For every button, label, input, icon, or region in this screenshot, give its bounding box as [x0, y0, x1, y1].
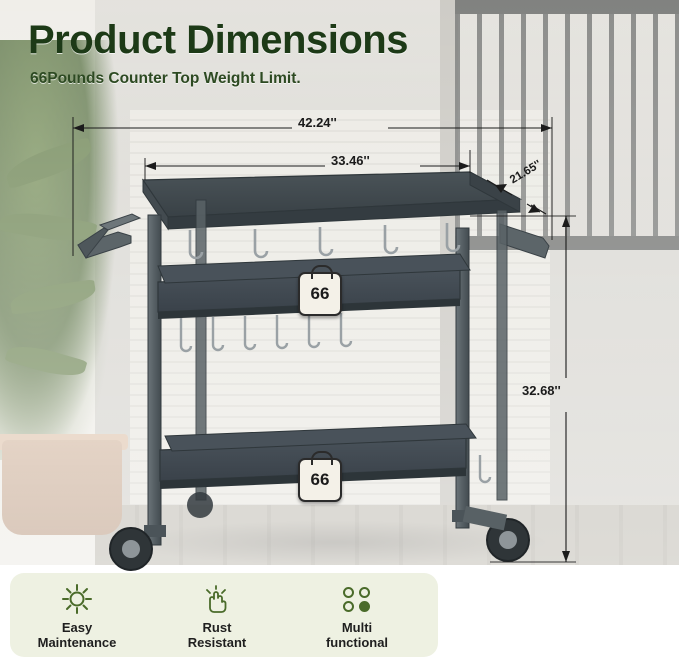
- tabletop-hooks: [190, 223, 459, 258]
- feature-label-line2: Resistant: [162, 635, 272, 650]
- badge-value: 66: [311, 284, 330, 304]
- badge-value: 66: [311, 470, 330, 490]
- feature-label-line1: Rust: [162, 620, 272, 635]
- badge-handle-icon: [311, 265, 333, 279]
- dot-empty: [359, 587, 370, 598]
- caster-back-left: [187, 492, 213, 518]
- caster-front-right: [452, 506, 529, 561]
- upper-shelf-weight-badge: 66: [298, 272, 342, 316]
- feature-label: Easy Maintenance: [22, 620, 132, 650]
- dimension-label-height: 32.68'': [522, 383, 561, 398]
- dot-empty: [343, 601, 354, 612]
- dimension-label-tabletop-width: 33.46'': [331, 153, 370, 168]
- feature-label: Rust Resistant: [162, 620, 272, 650]
- feature-label-line2: functional: [302, 635, 412, 650]
- dot-filled: [359, 601, 370, 612]
- cart-leg-back-right: [497, 210, 507, 500]
- cart-side-handle: [78, 214, 140, 258]
- page-title: Product Dimensions: [28, 18, 408, 63]
- feature-easy-maintenance: Easy Maintenance: [22, 582, 132, 650]
- bottom-side-hook: [480, 455, 490, 482]
- cart-leg-front-left: [148, 215, 161, 545]
- feature-label-line1: Easy: [22, 620, 132, 635]
- feature-rust-resistant: Rust Resistant: [162, 582, 272, 650]
- caster-front-left: [110, 525, 166, 570]
- four-dots-grid: [343, 587, 372, 612]
- badge-handle-icon: [311, 451, 333, 465]
- product-dimensions-infographic: 42.24'' 33.46'' 21.65'' 32.68'' 66 66 Pr…: [0, 0, 679, 668]
- feature-multi-functional: Multi functional: [302, 582, 412, 650]
- dimension-label-overall-width: 42.24'': [298, 115, 337, 130]
- page-subtitle: 66Pounds Counter Top Weight Limit.: [30, 70, 301, 88]
- feature-label-line2: Maintenance: [22, 635, 132, 650]
- dot-empty: [343, 587, 354, 598]
- sparkle-wipe-icon: [22, 582, 132, 616]
- feature-bar: Easy Maintenance Rust Resistant: [10, 573, 438, 657]
- feature-label-line1: Multi: [302, 620, 412, 635]
- hand-spray-icon: [162, 582, 272, 616]
- cart-body: [78, 172, 549, 570]
- lower-shelf-weight-badge: 66: [298, 458, 342, 502]
- feature-label: Multi functional: [302, 620, 412, 650]
- four-dots-icon: [302, 582, 412, 616]
